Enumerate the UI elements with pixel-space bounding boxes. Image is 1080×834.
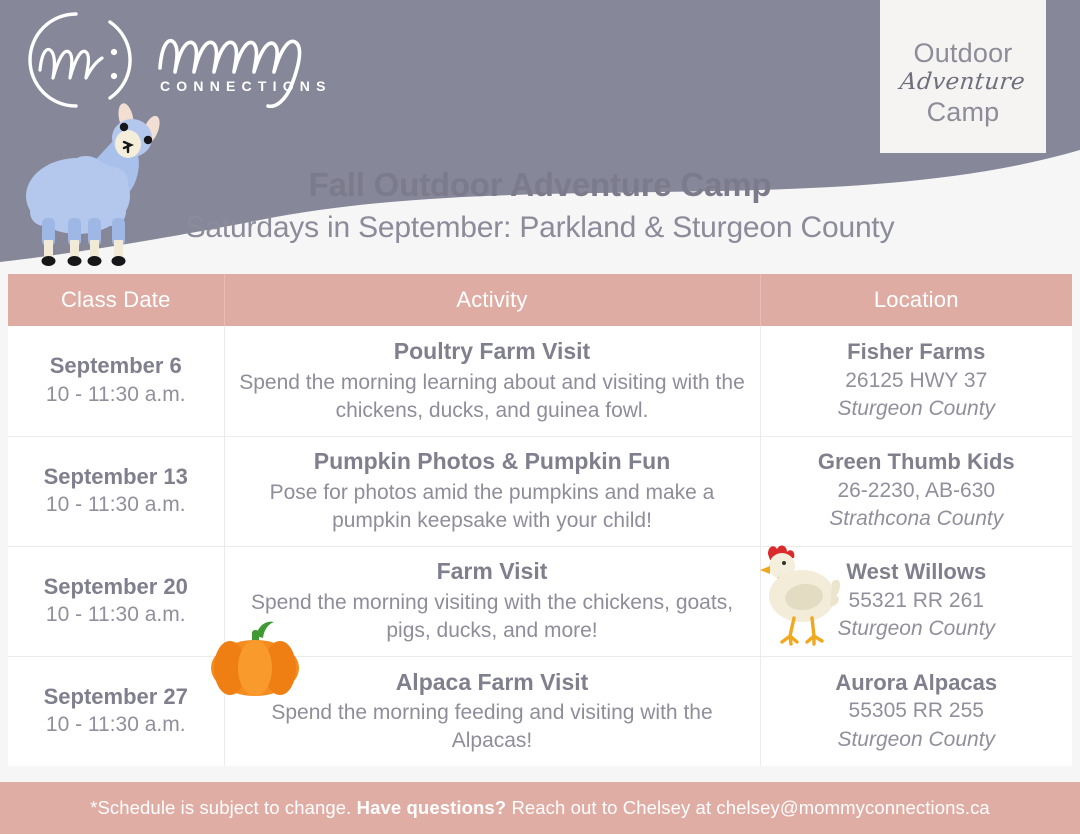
- cell-location: Aurora Alpacas 55305 RR 255 Sturgeon Cou…: [760, 656, 1072, 766]
- location-county: Strathcona County: [769, 505, 1065, 533]
- activity-description: Spend the morning feeding and visiting w…: [233, 699, 752, 754]
- schedule-table: Class Date Activity Location September 6…: [8, 274, 1072, 766]
- location-address: 26125 HWY 37: [769, 367, 1065, 395]
- class-date: September 20: [16, 573, 216, 602]
- location-address: 55305 RR 255: [769, 697, 1065, 725]
- footer-note: *Schedule is subject to change. Have que…: [90, 797, 990, 819]
- badge-line-adventure: Adventure: [899, 68, 1027, 97]
- cell-activity: Alpaca Farm Visit Spend the morning feed…: [224, 656, 760, 766]
- table-row: September 27 10 - 11:30 a.m. Alpaca Farm…: [8, 656, 1072, 766]
- cell-class-date: September 20 10 - 11:30 a.m.: [8, 546, 224, 656]
- class-date: September 13: [16, 463, 216, 492]
- cell-activity: Poultry Farm Visit Spend the morning lea…: [224, 326, 760, 436]
- location-address: 26-2230, AB-630: [769, 477, 1065, 505]
- class-time: 10 - 11:30 a.m.: [16, 601, 216, 629]
- cell-location: Green Thumb Kids 26-2230, AB-630 Strathc…: [760, 436, 1072, 546]
- cell-class-date: September 6 10 - 11:30 a.m.: [8, 326, 224, 436]
- cell-activity: Pumpkin Photos & Pumpkin Fun Pose for ph…: [224, 436, 760, 546]
- activity-title: Pumpkin Photos & Pumpkin Fun: [233, 447, 752, 477]
- page-title: Fall Outdoor Adventure Camp: [0, 166, 1080, 204]
- table-row: September 20 10 - 11:30 a.m. Farm Visit …: [8, 546, 1072, 656]
- table-row: September 13 10 - 11:30 a.m. Pumpkin Pho…: [8, 436, 1072, 546]
- outdoor-adventure-camp-badge: Outdoor Adventure Camp: [880, 0, 1046, 153]
- location-name: Aurora Alpacas: [769, 669, 1065, 698]
- activity-title: Poultry Farm Visit: [233, 337, 752, 367]
- class-date: September 6: [16, 352, 216, 381]
- cell-location: West Willows 55321 RR 261 Sturgeon Count…: [760, 546, 1072, 656]
- column-header-location: Location: [760, 274, 1072, 326]
- cell-class-date: September 27 10 - 11:30 a.m.: [8, 656, 224, 766]
- activity-title: Farm Visit: [233, 557, 752, 587]
- location-county: Sturgeon County: [769, 615, 1065, 643]
- activity-title: Alpaca Farm Visit: [233, 668, 752, 698]
- location-name: Fisher Farms: [769, 338, 1065, 367]
- poster-canvas: CONNECTIONS Outdoor Adventure Camp Fall …: [0, 0, 1080, 834]
- activity-description: Pose for photos amid the pumpkins and ma…: [233, 479, 752, 534]
- badge-line-outdoor: Outdoor: [914, 38, 1013, 68]
- activity-description: Spend the morning learning about and vis…: [233, 369, 752, 424]
- location-county: Sturgeon County: [769, 395, 1065, 423]
- footer-band: *Schedule is subject to change. Have que…: [0, 782, 1080, 834]
- class-date: September 27: [16, 683, 216, 712]
- location-county: Sturgeon County: [769, 726, 1065, 754]
- class-time: 10 - 11:30 a.m.: [16, 711, 216, 739]
- footer-disclaimer: *Schedule is subject to change.: [90, 797, 356, 818]
- location-address: 55321 RR 261: [769, 587, 1065, 615]
- footer-question: Have questions?: [357, 797, 507, 818]
- cell-location: Fisher Farms 26125 HWY 37 Sturgeon Count…: [760, 326, 1072, 436]
- column-header-activity: Activity: [224, 274, 760, 326]
- location-name: Green Thumb Kids: [769, 448, 1065, 477]
- activity-description: Spend the morning visiting with the chic…: [233, 589, 752, 644]
- location-name: West Willows: [769, 558, 1065, 587]
- table-row: September 6 10 - 11:30 a.m. Poultry Farm…: [8, 326, 1072, 436]
- class-time: 10 - 11:30 a.m.: [16, 491, 216, 519]
- class-time: 10 - 11:30 a.m.: [16, 381, 216, 409]
- footer-contact: Reach out to Chelsey at chelsey@mommycon…: [506, 797, 990, 818]
- table-header-row: Class Date Activity Location: [8, 274, 1072, 326]
- page-subtitle: Saturdays in September: Parkland & Sturg…: [0, 208, 1080, 247]
- cell-activity: Farm Visit Spend the morning visiting wi…: [224, 546, 760, 656]
- cell-class-date: September 13 10 - 11:30 a.m.: [8, 436, 224, 546]
- column-header-class-date: Class Date: [8, 274, 224, 326]
- title-block: Fall Outdoor Adventure Camp Saturdays in…: [0, 166, 1080, 247]
- badge-line-camp: Camp: [927, 97, 1000, 127]
